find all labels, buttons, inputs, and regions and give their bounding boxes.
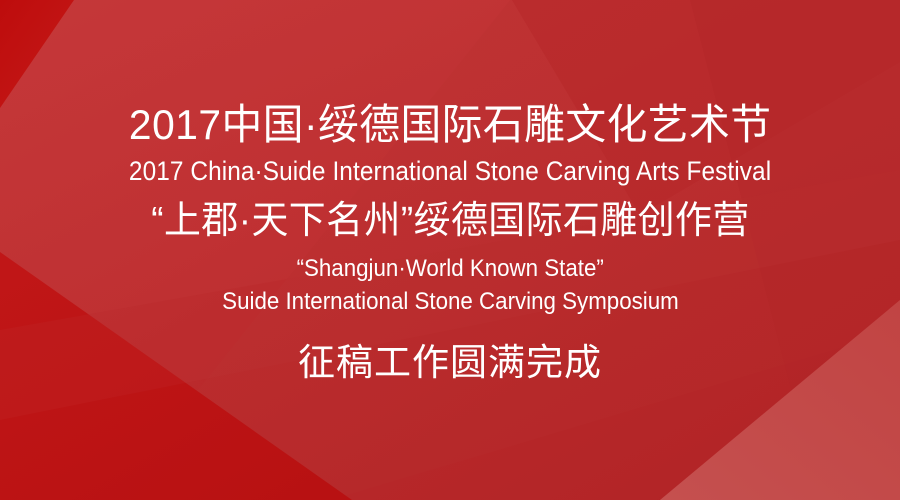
headline-english: 2017 China·Suide International Stone Car…: [129, 158, 771, 185]
subheadline-english-line-1: “Shangjun·World Known State”: [296, 257, 603, 281]
subheadline-english-line-2: Suide International Stone Carving Sympos…: [222, 290, 679, 314]
banner-text-block: 2017中国·绥德国际石雕文化艺术节 2017 China·Suide Inte…: [0, 0, 900, 500]
promotional-banner: 2017中国·绥德国际石雕文化艺术节 2017 China·Suide Inte…: [0, 0, 900, 500]
tagline-chinese: 征稿工作圆满完成: [298, 344, 602, 381]
headline-chinese: 2017中国·绥德国际石雕文化艺术节: [129, 104, 772, 146]
subheadline-chinese: “上郡·天下名州”绥德国际石雕创作营: [151, 202, 749, 240]
